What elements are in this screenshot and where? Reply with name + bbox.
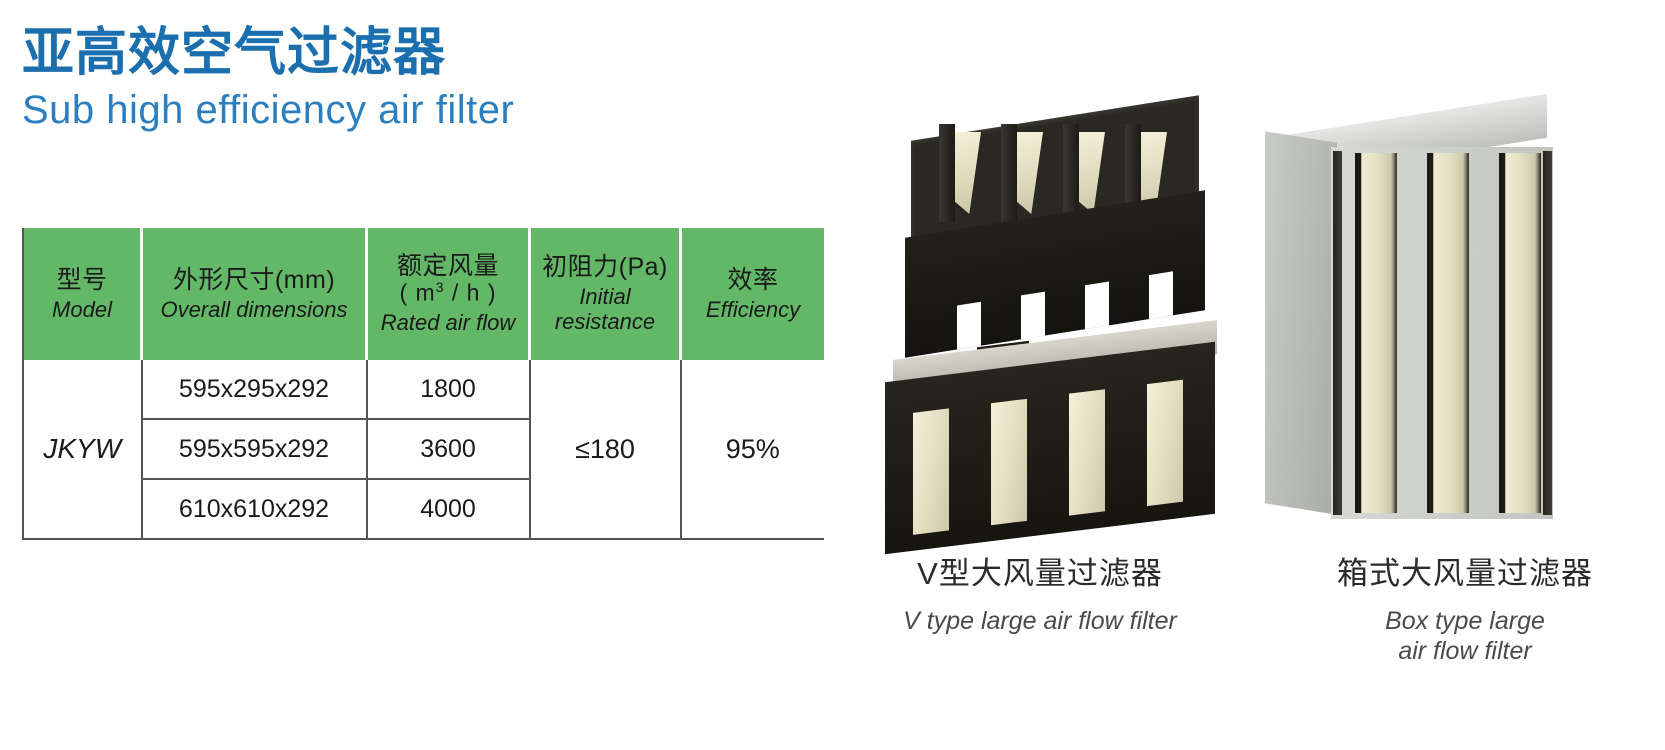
cell-efficiency-value: 95% <box>681 360 825 539</box>
column-header-initial-resistance-en: Initial resistance <box>531 285 679 334</box>
v-bank-media-panel <box>1147 380 1183 506</box>
v-bank-rib <box>1063 124 1079 222</box>
caption-v-type-cn: V型大风量过滤器 <box>850 555 1230 592</box>
column-header-efficiency: 效率 Efficiency <box>681 228 825 360</box>
v-bank-rib <box>939 124 955 222</box>
page-title-chinese: 亚高效空气过滤器 <box>22 26 514 81</box>
cell-rated-air-flow-1: 1800 <box>367 360 530 419</box>
table-header-row: 型号 Model 外形尺寸(mm) Overall dimensions 额定风… <box>23 228 824 360</box>
v-bank-media-panel <box>991 399 1027 525</box>
column-header-rated-air-flow-en: Rated air flow <box>368 311 528 336</box>
product-image-v-bank-front-view <box>885 340 1225 555</box>
column-header-rated-air-flow: 额定风量 ( m3 / h ) Rated air flow <box>367 228 530 360</box>
caption-v-type-filter: V型大风量过滤器 V type large air flow filter <box>850 555 1230 636</box>
cell-dimensions-3: 610x610x292 <box>142 479 367 539</box>
box-filter-front-face <box>1331 147 1553 519</box>
caption-box-type-en-line2: air flow filter <box>1270 636 1660 666</box>
column-header-dimensions-en: Overall dimensions <box>143 298 365 323</box>
column-header-model-en: Model <box>24 298 140 323</box>
box-filter-side-face <box>1265 131 1337 514</box>
column-header-model-cn: 型号 <box>24 266 140 294</box>
box-filter-rail <box>1543 151 1552 515</box>
v-bank-media-panel <box>913 408 949 534</box>
cell-initial-resistance-value: ≤180 <box>530 360 681 539</box>
table-row: JKYW 595x295x292 1800 ≤180 95% <box>23 360 824 419</box>
v-bank-notch <box>1149 271 1173 319</box>
column-header-model: 型号 Model <box>23 228 142 360</box>
caption-box-type-cn: 箱式大风量过滤器 <box>1270 555 1660 592</box>
specification-table: 型号 Model 外形尺寸(mm) Overall dimensions 额定风… <box>22 228 824 540</box>
v-bank-notch <box>1085 281 1109 329</box>
box-filter-rail <box>1333 151 1342 515</box>
box-filter-media-slot <box>1499 153 1541 513</box>
product-image-box-type-filter <box>1265 115 1565 545</box>
box-filter-media-slot <box>1427 153 1469 513</box>
v-bank-media-panel <box>1069 389 1105 515</box>
cell-dimensions-1: 595x295x292 <box>142 360 367 419</box>
caption-v-type-en: V type large air flow filter <box>850 606 1230 636</box>
page-title-block: 亚高效空气过滤器 Sub high efficiency air filter <box>22 26 514 133</box>
column-header-initial-resistance-cn: 初阻力(Pa) <box>531 253 679 281</box>
cell-rated-air-flow-2: 3600 <box>367 419 530 479</box>
caption-box-type-filter: 箱式大风量过滤器 Box type large air flow filter <box>1270 555 1660 666</box>
column-header-rated-air-flow-unit: ( m3 / h ) <box>368 280 528 306</box>
page-title-english: Sub high efficiency air filter <box>22 87 514 133</box>
box-filter-media-slot <box>1355 153 1397 513</box>
product-image-v-bank-top-view <box>905 118 1205 353</box>
column-header-dimensions-cn: 外形尺寸(mm) <box>143 266 365 294</box>
cell-rated-air-flow-3: 4000 <box>367 479 530 539</box>
v-bank-notch <box>1021 292 1045 340</box>
cell-dimensions-2: 595x595x292 <box>142 419 367 479</box>
v-bank-rib <box>1001 124 1017 222</box>
cell-model-value: JKYW <box>23 360 142 539</box>
caption-box-type-en: Box type large air flow filter <box>1270 606 1660 666</box>
column-header-rated-air-flow-cn: 额定风量 <box>368 252 528 280</box>
unit-exponent: 3 <box>436 279 445 295</box>
column-header-dimensions: 外形尺寸(mm) Overall dimensions <box>142 228 367 360</box>
column-header-initial-resistance: 初阻力(Pa) Initial resistance <box>530 228 681 360</box>
caption-box-type-en-line1: Box type large <box>1270 606 1660 636</box>
column-header-efficiency-en: Efficiency <box>682 298 824 323</box>
column-header-efficiency-cn: 效率 <box>682 266 824 294</box>
